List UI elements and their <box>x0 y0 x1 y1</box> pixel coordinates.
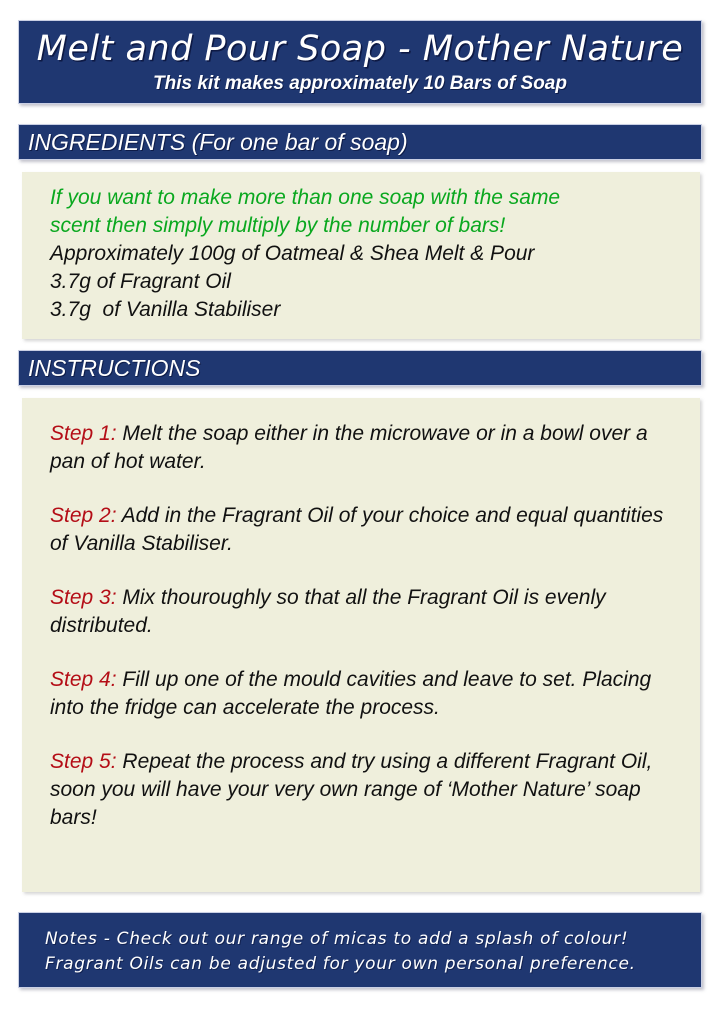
step-label: Step 4: <box>50 668 117 691</box>
step-label: Step 1: <box>50 422 117 445</box>
step-text: Mix thouroughly so that all the Fragrant… <box>50 586 606 637</box>
ingredient-item-2: 3.7g of Fragrant Oil <box>50 268 700 296</box>
ingredients-note-line-2: scent then simply multiply by the number… <box>50 212 700 240</box>
step-text: Melt the soap either in the microwave or… <box>50 422 648 473</box>
ingredients-heading-label: INGREDIENTS (For one bar of soap) <box>19 128 408 156</box>
step-text: Repeat the process and try using a diffe… <box>50 750 652 829</box>
instruction-step: Step 4: Fill up one of the mould cavitie… <box>50 666 682 722</box>
instruction-sheet: Melt and Pour Soap - Mother Nature This … <box>0 0 720 1015</box>
instructions-section-header: INSTRUCTIONS <box>18 350 702 386</box>
header-banner: Melt and Pour Soap - Mother Nature This … <box>18 20 702 104</box>
notes-line-2: Fragrant Oils can be adjusted for your o… <box>45 952 701 977</box>
ingredient-item-1: Approximately 100g of Oatmeal & Shea Mel… <box>50 240 700 268</box>
ingredients-note-line-1: If you want to make more than one soap w… <box>50 184 700 212</box>
page-title: Melt and Pour Soap - Mother Nature <box>19 26 701 72</box>
page-subtitle: This kit makes approximately 10 Bars of … <box>19 72 701 96</box>
notes-line-1: Notes - Check out our range of micas to … <box>45 927 701 952</box>
instruction-step: Step 2: Add in the Fragrant Oil of your … <box>50 502 682 558</box>
notes-footer: Notes - Check out our range of micas to … <box>18 912 702 988</box>
ingredients-section-header: INGREDIENTS (For one bar of soap) <box>18 124 702 160</box>
step-label: Step 5: <box>50 750 117 773</box>
instruction-step: Step 3: Mix thouroughly so that all the … <box>50 584 682 640</box>
instruction-step: Step 5: Repeat the process and try using… <box>50 748 682 832</box>
instruction-step: Step 1: Melt the soap either in the micr… <box>50 420 682 476</box>
instructions-panel: Step 1: Melt the soap either in the micr… <box>22 398 700 892</box>
step-label: Step 2: <box>50 504 117 527</box>
step-label: Step 3: <box>50 586 117 609</box>
step-text: Add in the Fragrant Oil of your choice a… <box>50 504 663 555</box>
step-text: Fill up one of the mould cavities and le… <box>50 668 651 719</box>
ingredient-item-3: 3.7g of Vanilla Stabiliser <box>50 296 700 324</box>
ingredients-panel: If you want to make more than one soap w… <box>22 172 700 339</box>
instructions-heading-label: INSTRUCTIONS <box>19 354 201 382</box>
